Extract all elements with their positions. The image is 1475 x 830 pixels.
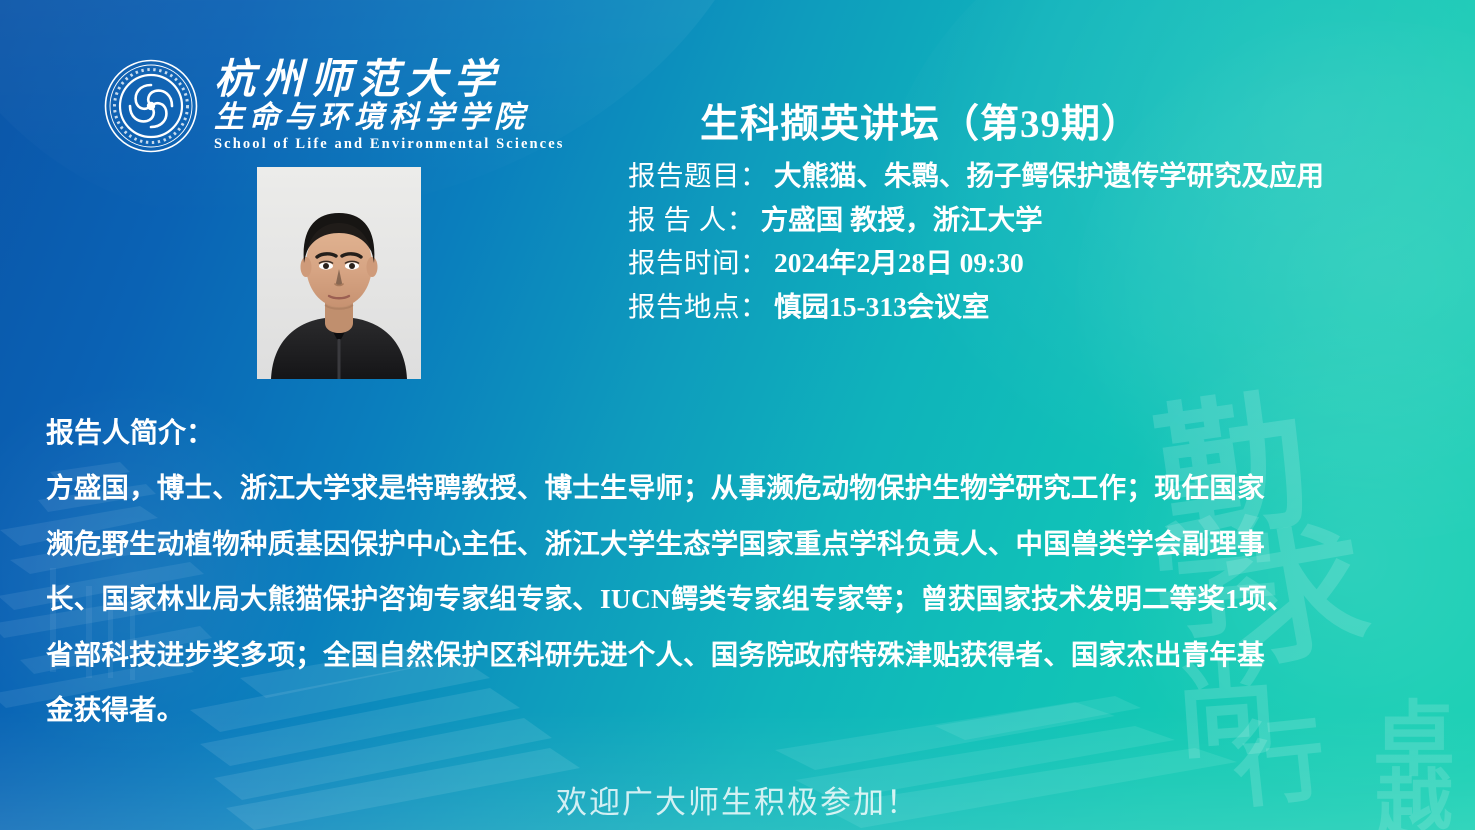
talk-info-value-speaker: 方盛国 教授，浙江大学: [761, 206, 1043, 234]
talk-info-label-location: 报告地点：: [628, 293, 768, 321]
talk-info-label-topic: 报告题目：: [628, 162, 768, 190]
institution-wordmark: 杭州师范大学 生命与环境科学学院 School of Life and Envi…: [214, 58, 564, 154]
speaker-bio-heading: 报告人简介：: [46, 420, 1456, 448]
school-name-en: School of Life and Environmental Science…: [214, 135, 564, 155]
talk-info-value-location: 慎园15-313会议室: [774, 293, 989, 321]
talk-info-row-topic: 报告题目： 大熊猫、朱鹮、扬子鳄保护遗传学研究及应用: [628, 162, 1458, 190]
welcome-footer-text: 欢迎广大师生积极参加！: [0, 777, 1475, 822]
speaker-bio-line: 长、国家林业局大熊猫保护咨询专家组专家、IUCN鳄类专家组专家等；曾获国家技术发…: [46, 585, 1456, 613]
talk-info-block: 报告题目： 大熊猫、朱鹮、扬子鳄保护遗传学研究及应用 报 告 人： 方盛国 教授…: [628, 162, 1458, 336]
university-name-cn: 杭州师范大学: [214, 58, 564, 101]
event-poster: 勤 学 求 尚 行 卓 越: [0, 0, 1475, 830]
institution-header: 杭州师范大学 生命与环境科学学院 School of Life and Envi…: [104, 58, 564, 154]
university-seal-logo-icon: [104, 59, 198, 153]
speaker-portrait-photo: [257, 167, 421, 379]
school-name-cn: 生命与环境科学学院: [214, 101, 564, 135]
speaker-bio-line: 濒危野生动植物种质基因保护中心主任、浙江大学生态学国家重点学科负责人、中国兽类学…: [46, 530, 1456, 558]
talk-info-row-speaker: 报 告 人： 方盛国 教授，浙江大学: [628, 206, 1458, 234]
speaker-bio-line: 金获得者。: [46, 696, 1456, 724]
talk-info-label-time: 报告时间：: [628, 249, 768, 277]
talk-info-value-time: 2024年2月28日 09:30: [774, 249, 1024, 277]
lecture-series-title: 生科撷英讲坛（第39期）: [700, 93, 1400, 149]
talk-info-row-location: 报告地点： 慎园15-313会议室: [628, 293, 1458, 321]
talk-info-value-topic: 大熊猫、朱鹮、扬子鳄保护遗传学研究及应用: [774, 162, 1324, 190]
speaker-bio-line: 方盛国，博士、浙江大学求是特聘教授、博士生导师；从事濒危动物保护生物学研究工作；…: [46, 474, 1456, 502]
talk-info-label-speaker: 报 告 人：: [628, 206, 755, 234]
speaker-bio-section: 报告人简介： 方盛国，博士、浙江大学求是特聘教授、博士生导师；从事濒危动物保护生…: [46, 420, 1456, 724]
talk-info-row-time: 报告时间： 2024年2月28日 09:30: [628, 249, 1458, 277]
speaker-bio-line: 省部科技进步奖多项；全国自然保护区科研先进个人、国务院政府特殊津贴获得者、国家杰…: [46, 641, 1456, 669]
